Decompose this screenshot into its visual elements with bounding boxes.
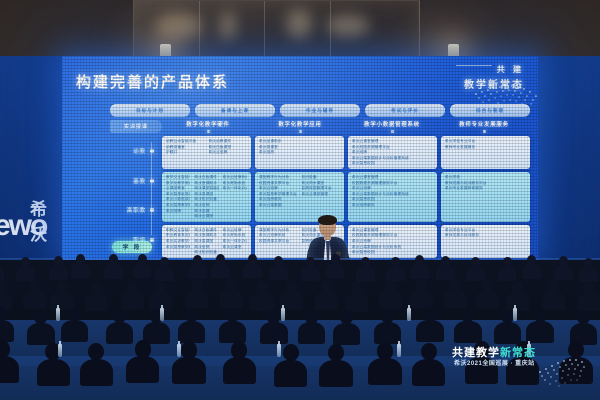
audience-shoulders [61, 320, 88, 342]
slide-tab-1: 备课与上课 [195, 104, 275, 117]
audience-shoulders [410, 264, 429, 279]
cell-item: 希沃云班牌系统 [259, 233, 298, 238]
cell-item: 职业教育常态化录播 [166, 233, 190, 238]
audience-head [0, 281, 6, 293]
audience-shoulders [356, 266, 375, 281]
audience-head [191, 279, 202, 291]
cell-item: 希沃品课 [194, 209, 218, 214]
cell-item: 希沃云课堂 [223, 245, 247, 250]
audience-shoulders [185, 290, 208, 309]
water-bottle [513, 308, 517, 321]
cell-group: 教学交互智能平板数字化教学常态录播云课堂教室希沃智慧纸笔课堂希沃小数据录播一体机… [166, 175, 190, 219]
audience-shoulders [27, 323, 54, 345]
cell-item: 希沃云端数据统计与分析管理系统 [352, 156, 433, 161]
water-bottle [281, 308, 285, 321]
cell-item: 希沃智慧教学管理平台 [259, 192, 298, 197]
speaker-hair [318, 215, 337, 225]
cell-item: 希沃信鸽 [259, 150, 340, 155]
matrix-cell: 希沃学校专业平台教师专业发展服务 [441, 136, 530, 169]
audience-shoulders [0, 356, 19, 383]
cell-item: 希沃易课堂 [259, 145, 340, 150]
audience-head [328, 344, 344, 362]
cell-group: 希沃云课堂管理希沃校园资源管理平台希沃班牌希沃云端数据统计与分析管理系统希沃智慧… [352, 139, 433, 166]
cell-item: 智慧校园管理平台 [302, 186, 341, 191]
cell-group: 希沃学校专业平台教师专业发展服务 [445, 139, 526, 166]
audience-shoulders [172, 357, 206, 384]
cell-group: 希沃云课堂管理校园数据资源管理服务平台希沃云班牌希沃云端数据统计与分析管理系统希… [352, 175, 433, 219]
slide-tab-strip: 目标与计划 备课与上课 作业与辅导 考试与评价 综合与管理 [110, 104, 530, 117]
cell-item: 教师专业发展服务 [445, 145, 526, 150]
audience-shoulders [178, 321, 205, 343]
audience-head [461, 308, 474, 322]
column-header-label: 数字化教学应用 [278, 120, 321, 128]
audience-head [381, 309, 394, 323]
cell-item: 护眼灯 [166, 150, 205, 155]
audience-shoulders [104, 263, 123, 278]
glass-reflection [286, 9, 312, 39]
led-screen-slide: 构建完善的产品体系 共 建 教学新常态 [62, 56, 538, 261]
audience-shoulders [578, 292, 600, 311]
conference-photo: seewo希沃 共建 新常态 ewo 希沃 构建完善的产品体系 共 建 教学新常… [0, 0, 600, 400]
row-label-1: 基教 [110, 166, 162, 196]
audience-shoulders [223, 357, 257, 384]
cell-item: 云课堂教室 [166, 186, 190, 191]
audience-shoulders [522, 264, 541, 279]
cell-group: 课堂教学行为分析校园资源共享平台希沃云班牌希沃智慧教学管理平台希沃信鸽服务希沃云… [259, 175, 298, 219]
cell-item: 希沃智慧教学终端 [166, 245, 190, 250]
cell-group: 希沃云班牌系统希沃考勤系统希沃一体化办公系统支持平台 [223, 175, 247, 219]
column-header-1: 数字化教学应用 [254, 120, 346, 134]
column-header-dot-icon [391, 130, 394, 133]
cell-item: 希沃白板课件 [194, 175, 218, 180]
matrix-row: 幼教互动智能平板幼教录播室护眼灯希沃幼教课件希沃白板课堂希沃云班牌希沃品课助手希… [162, 136, 530, 169]
cell-item: 希沃云课堂管理 [352, 139, 433, 144]
audience-head [283, 344, 299, 362]
cell-item: 希沃考勤系统 [223, 233, 247, 238]
audience-shoulders [106, 322, 133, 344]
cell-item: 希沃信鸽服务 [352, 203, 433, 208]
cell-item: 希沃易课堂 [194, 239, 218, 244]
water-bottle [277, 344, 281, 357]
cell-item: 希沃品课助手 [259, 139, 340, 144]
audience-shoulders [49, 265, 68, 280]
audience-head [231, 341, 247, 359]
cell-group: 课堂教学行为分析希沃云班牌系统校园资源共享平台 [259, 228, 298, 255]
cell-item: 希沃白板课堂 [209, 145, 248, 150]
cell-group: 希沃学苑教师发展与培训服务平台希沃专业发展研修服务 [445, 175, 526, 219]
cell-item: 希沃云课堂管理 [302, 192, 341, 197]
cell-group: 希沃品课助手希沃易课堂希沃信鸽 [259, 139, 340, 166]
cell-item: 希沃幼教课件 [209, 139, 248, 144]
header-corner: 实训授课 [110, 120, 162, 134]
matrix-cell: 希沃云课堂管理校园数据资源管理服务平台希沃云班牌希沃云端数据统计与分析管理系统希… [348, 172, 437, 222]
audience-head [68, 307, 81, 321]
audience-shoulders [444, 289, 467, 308]
audience-shoulders [269, 265, 288, 280]
audience-shoulders [542, 291, 565, 310]
cell-item: 希沃信鸽 [194, 203, 218, 208]
audience-shoulders [368, 358, 402, 385]
audience-shoulders [333, 323, 360, 345]
audience-head [29, 280, 40, 292]
audience-shoulders [0, 266, 4, 281]
audience-shoulders [466, 266, 485, 281]
cell-item: 希沃云课堂管理 [352, 175, 433, 180]
cell-item: 希沃云班牌 [352, 186, 433, 191]
cell-item: 希沃班牌 [352, 150, 433, 155]
row-label-2: 高职教 [110, 196, 162, 226]
audience-shoulders [301, 266, 320, 281]
cell-item: 希沃云端数据统计与分析管理系统 [352, 192, 433, 197]
audience-head [503, 257, 512, 267]
audience-shoulders [133, 263, 152, 278]
audience-head [135, 340, 151, 358]
row-dot-icon [150, 238, 154, 242]
water-bottle [407, 308, 411, 321]
cell-item: 希沃小数据录播一体机 [166, 197, 190, 202]
corner-label: 实训授课 [110, 120, 162, 133]
matrix-cell: 幼教互动智能平板幼教录播室护眼灯希沃幼教课件希沃白板课堂希沃云班牌 [162, 136, 251, 169]
audience-shoulders [412, 359, 446, 386]
cell-item: 希沃智慧校园 [352, 161, 433, 166]
audience-shoulders [579, 267, 598, 282]
column-header-3: 教师专业发展服务 [438, 120, 530, 134]
cell-item: 教师发展与培训服务 [445, 233, 526, 238]
cell-item: 希沃考勤系统 [223, 181, 247, 186]
audience-shoulders [315, 291, 338, 310]
cell-item: 希沃校园资源管理平台 [352, 145, 433, 150]
audience-shoulders [410, 290, 433, 309]
cell-item: 希沃实训教学一体机 [166, 239, 190, 244]
audience-shoulders [260, 322, 287, 344]
column-header-2: 教学小数据管理系统 [346, 120, 438, 134]
cell-item: 希沃白板课件 [194, 228, 218, 233]
cell-group: 希沃云课堂管理校园数据资源管理服务平台希沃云班牌希沃云端数据统计与分析系统希沃智… [352, 228, 433, 255]
audience-shoulders [121, 292, 144, 311]
cell-item: 希沃一体化办公平台 [223, 239, 247, 244]
audience-shoulders [37, 359, 71, 386]
audience-shoulders [319, 360, 353, 387]
cell-item: 课堂教学行为分析 [259, 228, 298, 233]
matrix-cell: 希沃品课助手希沃易课堂希沃信鸽 [255, 136, 344, 169]
slide-column-headers: 实训授课 数字化教学硬件 数字化教学应用 教学小数据管理系统 教师专业发展服务 [110, 120, 530, 134]
cell-item: 希沃云端数据 [259, 203, 298, 208]
audience-shoulders [126, 356, 160, 383]
cell-item: 希沃智慧校园 [352, 197, 433, 202]
row-label-text: 幼教 [133, 147, 146, 155]
slide-tab-0: 目标与计划 [110, 104, 190, 117]
column-header-label: 数字化教学硬件 [186, 120, 229, 128]
cell-item: 幼教互动智能平板 [166, 139, 205, 144]
cell-item: 希沃云班牌 [209, 150, 248, 155]
cell-item: 校园资源共享平台 [259, 239, 298, 244]
cell-item: 希沃信鸽服务 [259, 197, 298, 202]
audience-head [226, 308, 239, 322]
audience-shoulders [498, 266, 517, 281]
water-bottle [58, 344, 62, 357]
row-label-text: 高职教 [127, 206, 146, 214]
slide-title: 构建完善的产品体系 [76, 71, 229, 92]
cell-item: 希沃智慧纸笔课堂 [166, 192, 190, 197]
water-bottle [160, 308, 164, 321]
audience-shoulders [155, 266, 174, 281]
audience-shoulders [506, 292, 529, 311]
audience-shoulders [71, 263, 90, 278]
cell-item: 希沃课堂智能反馈 [194, 186, 218, 191]
column-header-label: 教师专业发展服务 [459, 120, 509, 128]
cell-group: 希沃白板课件希沃授课助手希沃课堂智能反馈希沃易课堂希沃知识胶囊希沃信鸽希沃品课希… [194, 175, 218, 219]
water-bottle [56, 308, 60, 321]
row-label-text: 基教 [133, 177, 146, 185]
cell-group: 知识胶囊希沃同步课堂智慧校园管理平台希沃云课堂管理 [302, 175, 341, 219]
cell-item: 课堂教学行为分析 [259, 175, 298, 180]
lockup-rule [456, 65, 492, 66]
audience-shoulders [188, 264, 207, 279]
watermark-subline: 希沃2021全国巡展 · 重庆站 [454, 358, 535, 367]
audience-shoulders [220, 289, 243, 308]
matrix-cell: 希沃学苑教师发展与培训服务平台希沃专业发展研修服务 [441, 172, 530, 222]
cell-item: 希沃授课助手 [194, 233, 218, 238]
cell-item: 教学交互智能平板 [166, 175, 190, 180]
slide-tab-4: 综合与管理 [450, 104, 530, 117]
cell-item: 校园数据资源管理服务平台 [352, 233, 433, 238]
cell-item: 希沃智慧教学终端 [166, 203, 190, 208]
audience-shoulders [243, 263, 262, 278]
audience-shoulders [250, 292, 273, 311]
cell-item: 希沃知识胶囊 [194, 197, 218, 202]
cell-item: 希沃云班牌 [259, 186, 298, 191]
audience-shoulders [85, 293, 108, 312]
audience-head [421, 343, 437, 361]
cell-item: 希沃班牌 [166, 209, 190, 214]
cell-item: 校园数据资源管理服务平台 [352, 181, 433, 186]
cell-group: 希沃学校专业平台教师发展与培训服务 [445, 228, 526, 255]
column-header-0: 数字化教学硬件 [162, 120, 254, 134]
cell-item: 知识胶囊 [302, 175, 341, 180]
audience-head [34, 310, 47, 324]
cell-item: 希沃云班牌 [223, 228, 247, 233]
cell-item: 希沃云班牌 [352, 239, 433, 244]
row-dot-icon [150, 149, 154, 153]
cell-item: 希沃专业发展研修服务 [445, 186, 526, 191]
audience-head [377, 342, 393, 360]
cell-item: 职教交互智能平板 [166, 228, 190, 233]
audience-shoulders [345, 293, 368, 312]
audience-shoulders [416, 320, 443, 342]
side-wall-logo-cn: 希沃 [30, 195, 62, 245]
row-label-0: 幼教 [110, 136, 162, 166]
cell-item: 数字化教学常态录播 [166, 181, 190, 186]
audience-head [534, 308, 547, 322]
water-bottle [397, 344, 401, 357]
slide-tab-2: 作业与辅导 [280, 104, 360, 117]
cell-group: 希沃云班牌希沃考勤系统希沃一体化办公平台希沃云课堂 [223, 228, 247, 255]
audience-shoulders [476, 290, 499, 309]
cell-item: 希沃同步课堂 [302, 181, 341, 186]
audience-shoulders [298, 322, 325, 344]
matrix-cell: 课堂教学行为分析校园资源共享平台希沃云班牌希沃智慧教学管理平台希沃信鸽服务希沃云… [255, 172, 344, 222]
cell-item: 希沃学苑 [445, 175, 526, 180]
matrix-row: 教学交互智能平板数字化教学常态录播云课堂教室希沃智慧纸笔课堂希沃小数据录播一体机… [162, 172, 530, 222]
audience-shoulders [23, 291, 46, 310]
cell-item: 希沃一体化办公系统支持平台 [223, 186, 247, 191]
cell-item: 希沃信鸽 [194, 245, 218, 250]
column-header-dot-icon [299, 130, 302, 133]
watermark-fan-icon [532, 342, 590, 390]
audience-shoulders [80, 359, 114, 386]
matrix-cell: 希沃云课堂管理希沃校园资源管理平台希沃班牌希沃云端数据统计与分析管理系统希沃智慧… [348, 136, 437, 169]
cell-group: 希沃白板课件希沃授课助手希沃易课堂希沃信鸽希沃知识胶囊 [194, 228, 218, 255]
cell-item: 希沃学校专业平台 [445, 228, 526, 233]
cell-item: 希沃云端数据统计与分析系统 [352, 245, 433, 250]
cell-item: 希沃云课堂 [194, 214, 218, 219]
cell-item: 希沃学校专业平台 [445, 139, 526, 144]
audience-shoulders [326, 263, 345, 278]
row-dot-icon [150, 208, 154, 212]
audience-shoulders [211, 263, 230, 278]
cell-item: 希沃授课助手 [194, 181, 218, 186]
event-watermark: 共建教学新常态 希沃2021全国巡展 · 重庆站 [442, 338, 592, 392]
cell-group: 幼教互动智能平板幼教录播室护眼灯 [166, 139, 205, 166]
column-header-dot-icon [483, 130, 486, 133]
audience-head [181, 341, 197, 359]
row-label-rail: 幼教 基教 高职教 职培 学 段 [110, 136, 162, 255]
glass-reflection [220, 11, 236, 41]
slide-tab-3: 考试与评价 [365, 104, 445, 117]
cell-group: 希沃幼教课件希沃白板课堂希沃云班牌 [209, 139, 248, 166]
cell-item: 教师发展与培训服务平台 [445, 181, 526, 186]
audience-shoulders [16, 266, 35, 281]
led-side-wall-left: ewo 希沃 [0, 56, 62, 261]
audience-head [340, 310, 353, 324]
audience-head [577, 310, 590, 324]
water-bottle [177, 344, 181, 357]
cell-item: 希沃易课堂 [194, 192, 218, 197]
cell-item: 校园资源共享平台 [259, 181, 298, 186]
cell-item: 希沃云班牌系统 [223, 175, 247, 180]
cell-item: 希沃云课堂管理 [352, 228, 433, 233]
led-side-wall-right [538, 56, 600, 261]
column-header-dot-icon [207, 130, 210, 133]
audience-shoulders [219, 321, 246, 343]
cell-item: 幼教录播室 [166, 145, 205, 150]
audience-shoulders [379, 290, 402, 309]
row-dot-icon [150, 179, 154, 183]
cell-group: 职教交互智能平板职业教育常态化录播希沃实训教学一体机希沃智慧教学终端 [166, 228, 190, 255]
audience-head [57, 281, 68, 293]
matrix-cell: 教学交互智能平板数字化教学常态录播云课堂教室希沃智慧纸笔课堂希沃小数据录播一体机… [162, 172, 251, 222]
glass-reflection [326, 15, 370, 37]
audience-shoulders [274, 360, 308, 387]
audience-shoulders [554, 265, 573, 280]
column-header-label: 教学小数据管理系统 [364, 120, 420, 128]
